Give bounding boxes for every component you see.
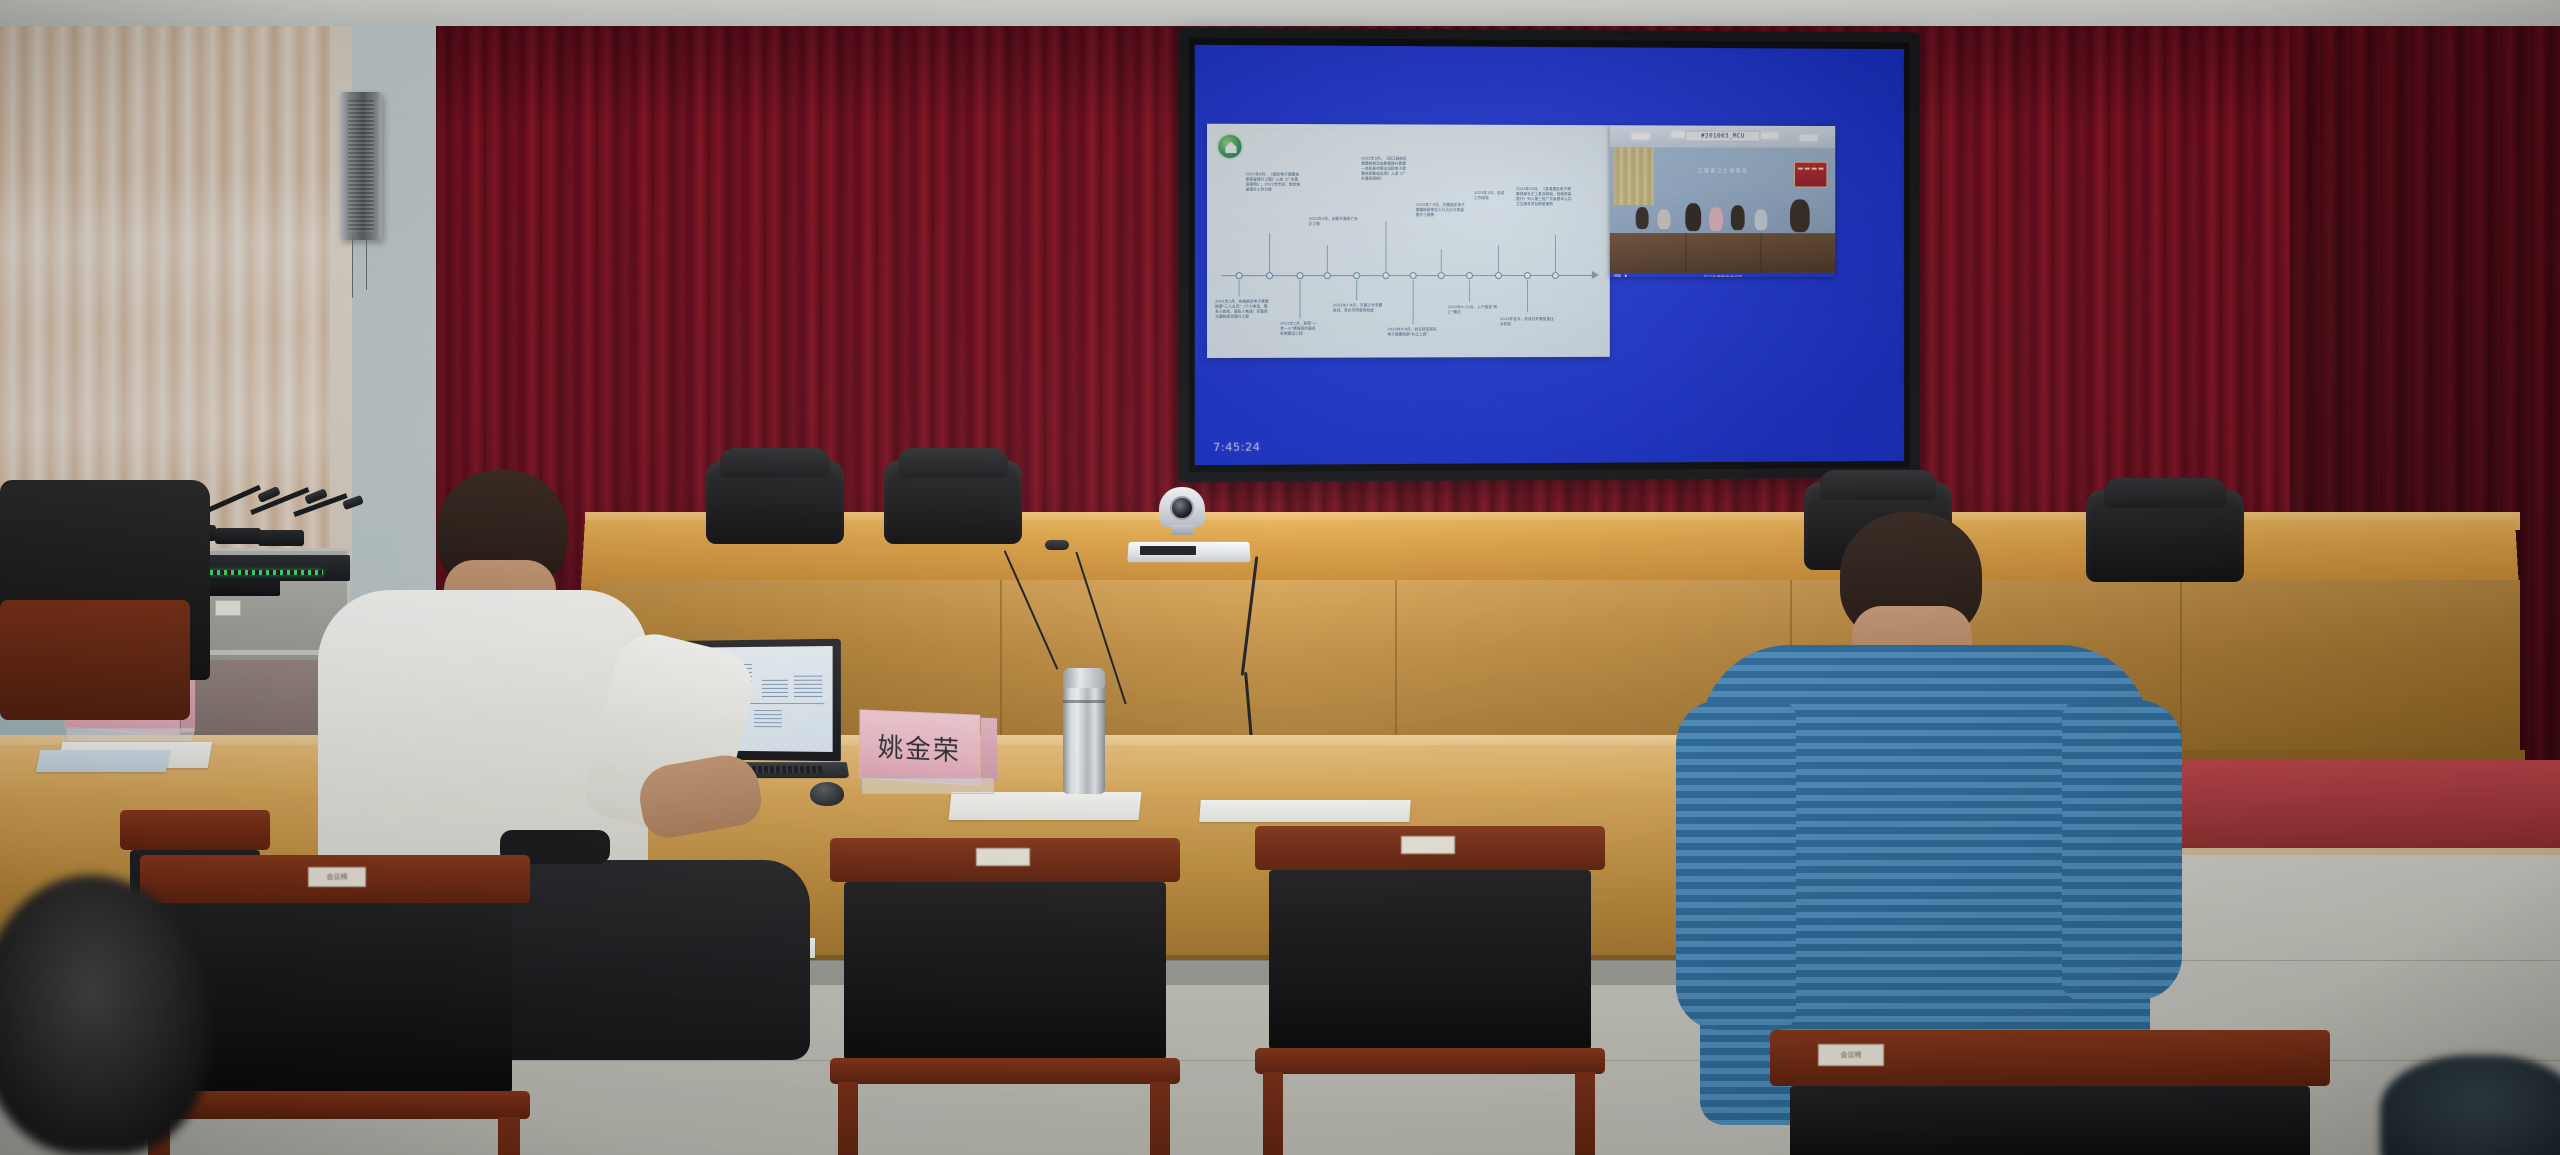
- participant-arm: [1676, 700, 1796, 1030]
- ceiling-light: [1632, 133, 1650, 139]
- timeline-leader: [1269, 233, 1270, 273]
- chair-tag: [976, 848, 1030, 866]
- timeline-label: 2021年6月，《居民电子健康档案质量提升工程》入选《广东基层案例》；2022年…: [1246, 172, 1301, 192]
- switch-led-indicators: [203, 570, 323, 575]
- laptop-text-block: [754, 709, 782, 727]
- remote-dais: [1610, 233, 1835, 273]
- thermos-cup: [1063, 676, 1105, 794]
- timeline-leader: [1356, 280, 1357, 300]
- timeline-label: 2023年10月，《县域居民电子健康档案补正工具自研制、档案质量提升》列入第三批…: [1516, 187, 1574, 207]
- audience-chair[interactable]: [1255, 826, 1605, 1126]
- gooseneck-microphone: [258, 530, 304, 546]
- gooseneck-microphone: [215, 528, 261, 544]
- timeline-node: [1296, 272, 1303, 279]
- timeline-label: 2022年5-6月，自主研发居民电子健康档案"补正工具": [1387, 327, 1437, 337]
- mcu-site-label-text: #201003_MCU: [1701, 133, 1745, 140]
- remote-participant: [1731, 205, 1745, 230]
- timeline-leader: [1469, 280, 1470, 302]
- laptop-text-block: [762, 677, 788, 697]
- speaker-wire: [352, 238, 353, 298]
- timeline-node: [1466, 272, 1473, 279]
- remote-wall-banner: 卫健委卫生健康局: [1662, 167, 1785, 174]
- timeline-leader: [1441, 249, 1442, 273]
- timeline-axis-arrow-icon: [1592, 271, 1599, 279]
- remote-participant: [1755, 209, 1768, 230]
- timeline-node: [1353, 272, 1360, 279]
- placard-text: 姚金荣: [878, 726, 961, 767]
- display-screen[interactable]: 2021年1月，实施居民电子健康档案"三人主页"（个人电话、联系人姓名、联系人电…: [1195, 45, 1904, 465]
- timeline-label: 2021年1月，实施居民电子健康档案"三人主页"（个人电话、联系人姓名、联系人电…: [1215, 299, 1270, 319]
- stacked-chair-frame: [0, 600, 190, 720]
- timeline-axis: [1221, 275, 1594, 276]
- timeline-node: [1324, 272, 1331, 279]
- timeline-label: 2023年至今，形成月开展信息比对机制: [1500, 317, 1554, 327]
- foreground-person-blur: [2380, 1055, 2560, 1155]
- timeline-leader: [1299, 280, 1300, 318]
- executive-chair[interactable]: [700, 448, 850, 543]
- laptop-text-block: [794, 673, 822, 697]
- meeting-timer: 7:45:24: [1213, 441, 1260, 454]
- ceiling: [0, 0, 2560, 26]
- remote-participant: [1636, 207, 1649, 229]
- dais-seam: [1685, 233, 1686, 273]
- chair-tag: 会议椅: [308, 867, 366, 887]
- timeline-node: [1438, 272, 1445, 279]
- timeline-label: 2022年1月，探索"一老一小"精准签约服务机制建设工程: [1280, 321, 1316, 336]
- health-commission-logo-icon: [1216, 133, 1243, 160]
- timeline-label: 2022年3月，创新开展死亡补正工程: [1309, 217, 1360, 227]
- remote-participant: [1685, 203, 1701, 231]
- table-panel-seam: [1000, 580, 1002, 755]
- timeline-node: [1524, 272, 1531, 279]
- mcu-site-label: #201003_MCU: [1685, 130, 1760, 141]
- chair-tag: 会议椅: [1818, 1044, 1884, 1066]
- speaker-grill: [348, 100, 374, 232]
- audience-chair[interactable]: [830, 838, 1180, 1138]
- timeline-leader: [1239, 280, 1240, 296]
- thermos-cap: [1063, 668, 1105, 688]
- sheer-window-curtain: [0, 6, 330, 560]
- timeline-leader: [1413, 280, 1414, 324]
- remote-participant: [1790, 199, 1810, 232]
- timeline-label: 2023年1月，总结工作经验: [1474, 191, 1508, 201]
- timeline-leader: [1527, 280, 1528, 312]
- conference-room-photo: 2021年1月，实施居民电子健康档案"三人主页"（个人电话、联系人姓名、联系人电…: [0, 0, 2560, 1155]
- remote-room-blinds: [1614, 147, 1654, 205]
- remote-site-video-window[interactable]: 卫健委卫生健康局 #201003_MCU 县卫生健康委会议室 ⌨ ▮: [1610, 125, 1835, 277]
- red-honor-board: [1794, 162, 1827, 188]
- timeline-node: [1236, 272, 1243, 279]
- timeline-node: [1410, 272, 1417, 279]
- network-switch: [195, 555, 350, 581]
- document-sheet: [36, 750, 171, 772]
- timeline-node: [1552, 272, 1559, 279]
- placard-yao-jinrong: 姚金荣: [858, 712, 998, 798]
- speaker-wire-2: [366, 238, 367, 290]
- timeline-label: 2022年1-6月，开展工作专题培训、举办专项督导检查: [1333, 303, 1386, 313]
- executive-chair[interactable]: [878, 448, 1028, 543]
- remote-participant: [1658, 209, 1671, 229]
- ptz-camera[interactable]: [1153, 487, 1211, 545]
- timeline-node: [1266, 272, 1273, 279]
- timeline-label: 2022年9-12月，入户核查"死亡"情况: [1448, 305, 1500, 315]
- timeline-label: 2022年7-9月，开展居民电子健康档案常住人口占比与质量提升工程等: [1416, 203, 1466, 218]
- chair-tag: [1401, 836, 1455, 854]
- audience-chair[interactable]: 会议椅: [1770, 1030, 2330, 1155]
- timeline-leader: [1555, 235, 1556, 273]
- timeline-node: [1382, 272, 1389, 279]
- dais-seam: [1760, 233, 1761, 273]
- timeline-leader: [1385, 221, 1386, 273]
- wall-display[interactable]: 2021年1月，实施居民电子健康档案"三人主页"（个人电话、联系人姓名、联系人电…: [1178, 28, 1919, 483]
- timeline-node: [1495, 272, 1502, 279]
- executive-chair[interactable]: [2080, 478, 2250, 583]
- ptz-camera-neck: [1171, 525, 1193, 535]
- thermos-seam: [1063, 700, 1105, 703]
- cart-asset-tag: [215, 600, 241, 616]
- wireless-mouse[interactable]: [810, 782, 844, 806]
- codec-front-panel: [1140, 546, 1196, 555]
- remote-participant: [1709, 207, 1723, 231]
- ceiling-light: [1800, 135, 1818, 141]
- timeline-leader: [1498, 245, 1499, 273]
- remote-site-caption: 县卫生健康委会议室: [1665, 275, 1780, 277]
- presentation-slide: 2021年1月，实施居民电子健康档案"三人主页"（个人电话、联系人姓名、联系人电…: [1207, 124, 1610, 358]
- timeline-leader: [1327, 245, 1328, 273]
- table-panel-seam: [2180, 580, 2182, 755]
- timeline-label: 2022年3月，《南江县居民健康档案动态数据提升健康一体机县村联动远程电子健康档…: [1361, 156, 1409, 181]
- ceiling-light: [1760, 133, 1778, 139]
- remote-window-controls[interactable]: ⌨ ▮: [1614, 274, 1628, 277]
- participant-arm: [2062, 700, 2182, 1000]
- table-panel-seam: [1395, 580, 1397, 755]
- document-sheet: [1199, 800, 1411, 822]
- table-microphone[interactable]: [1045, 540, 1069, 550]
- camera-lens-icon: [1170, 496, 1194, 520]
